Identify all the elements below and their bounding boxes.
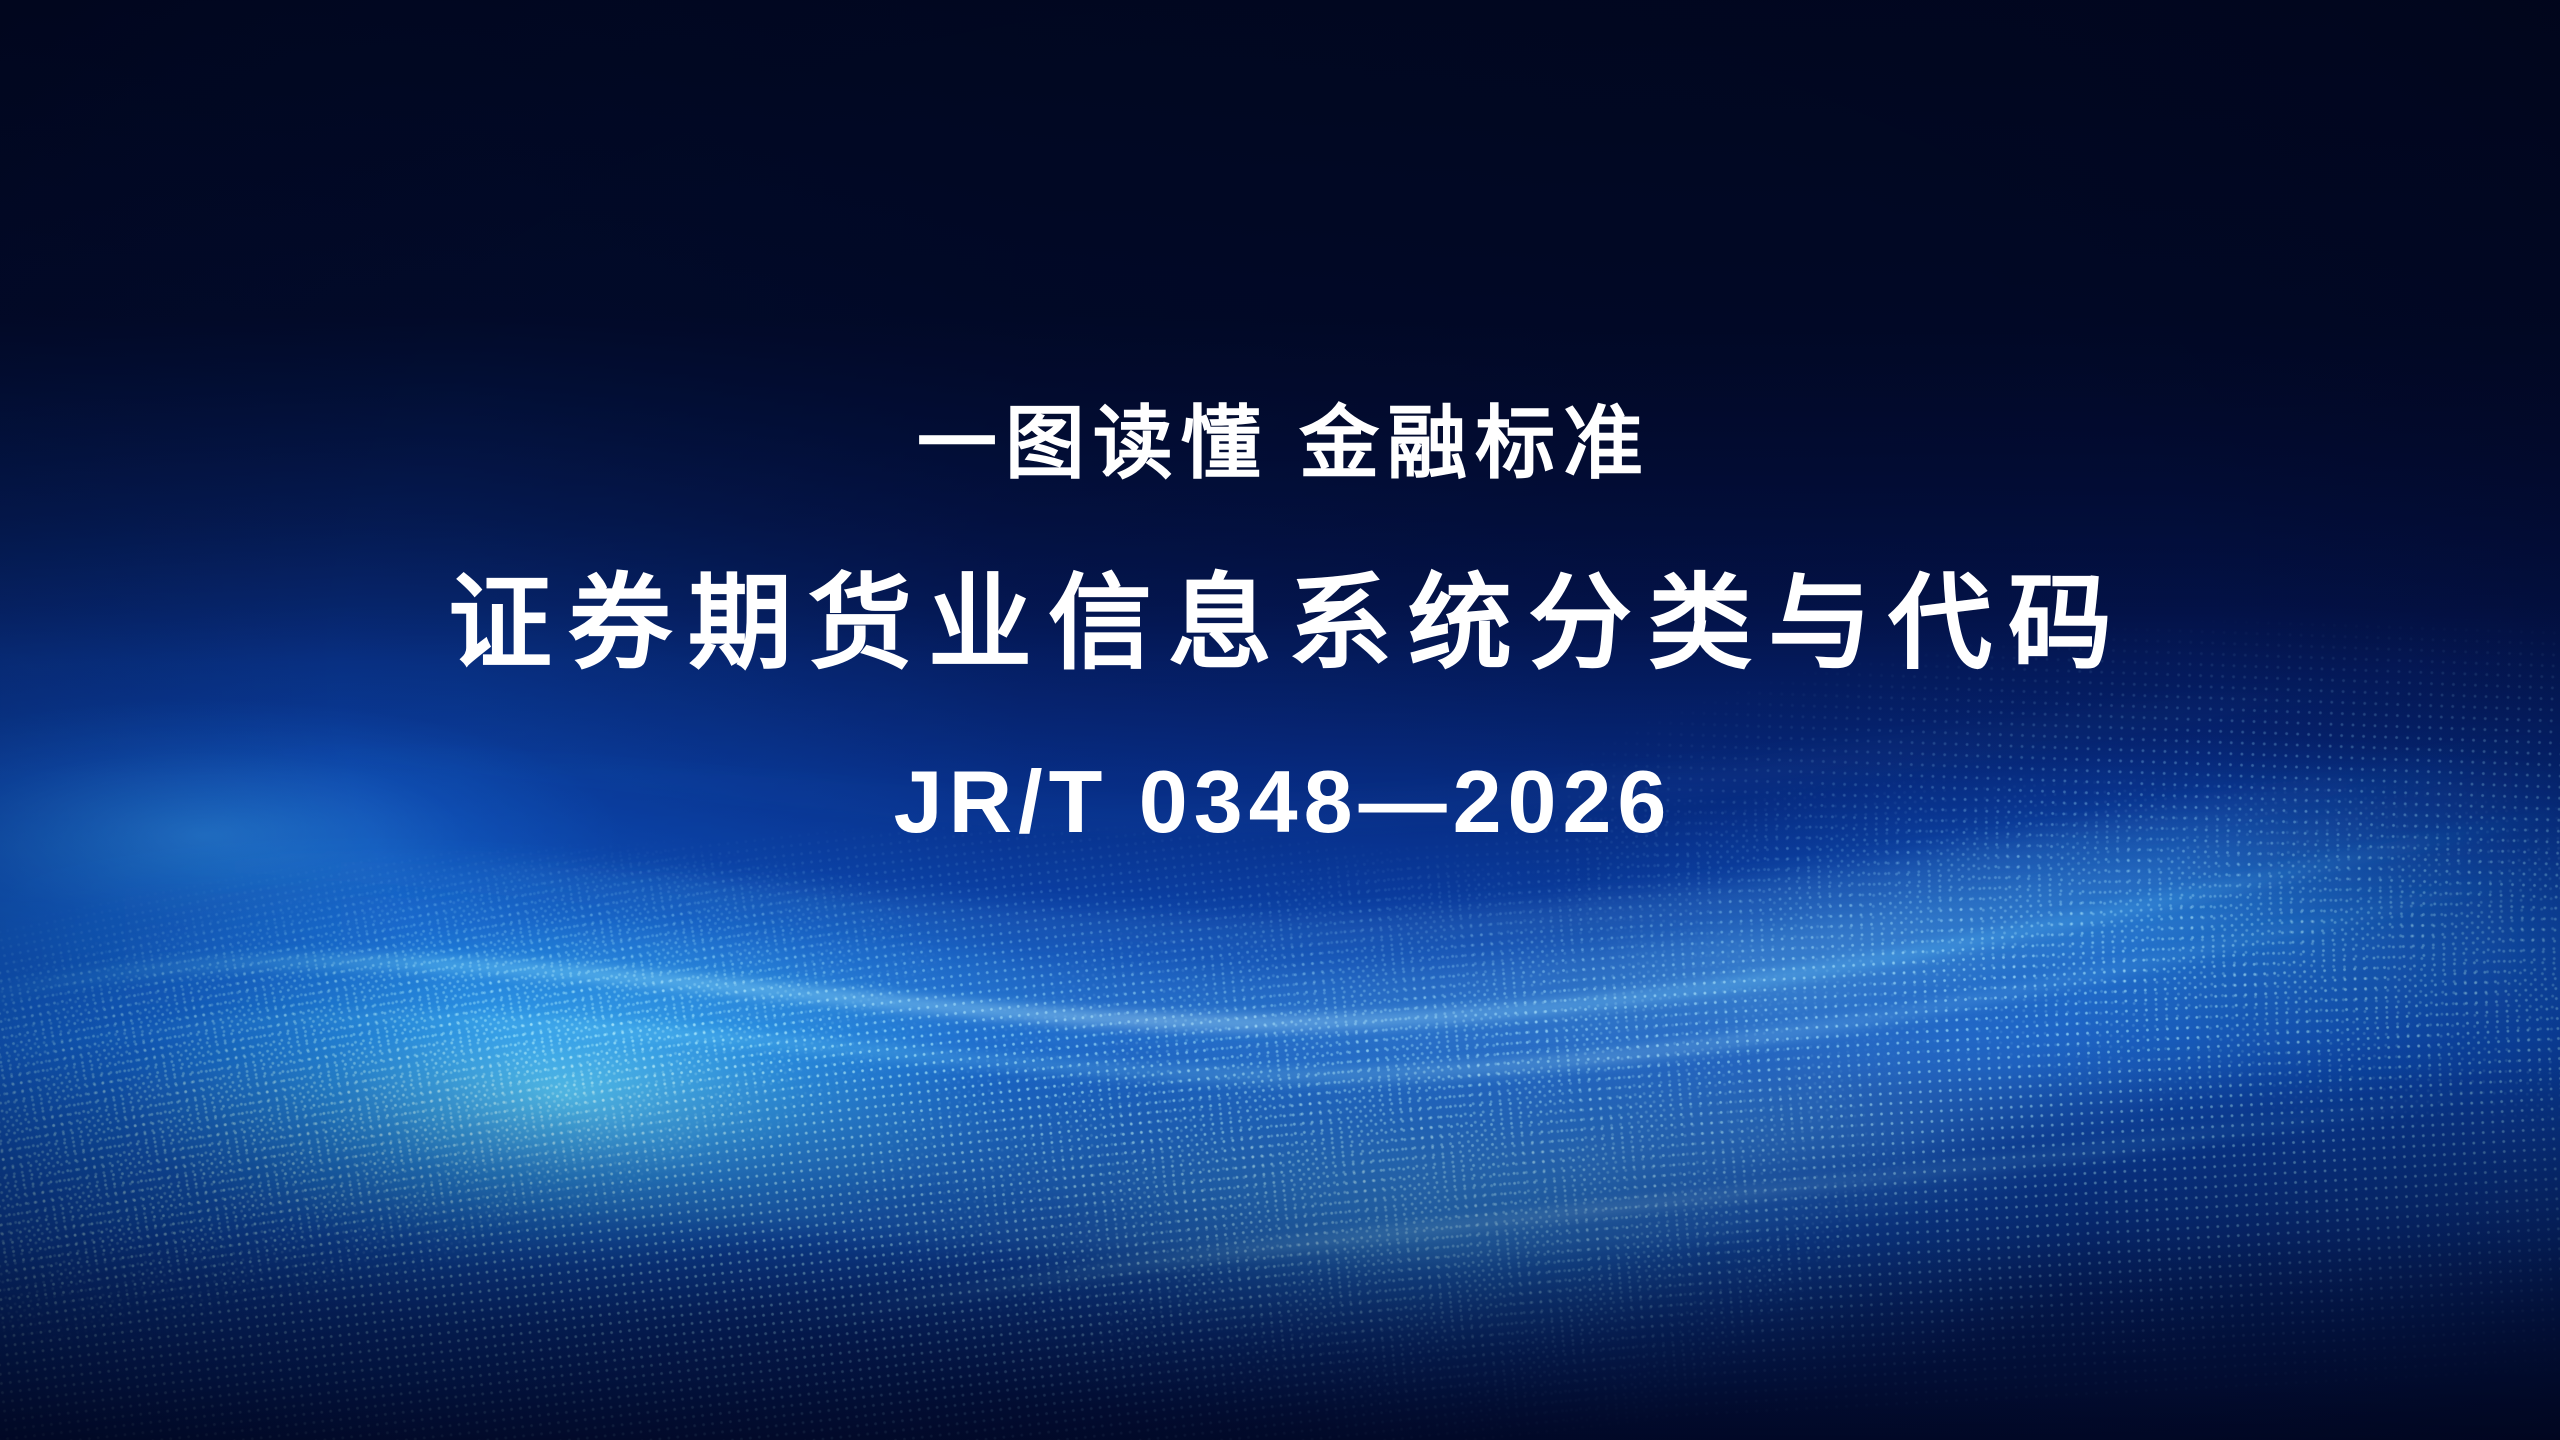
title-block: 一图读懂 金融标准 证券期货业信息系统分类与代码 JR/T 0348—2026: [0, 404, 2560, 846]
title-line-standard-name: 证券期货业信息系统分类与代码: [0, 572, 2560, 676]
title-slide: 一图读懂 金融标准 证券期货业信息系统分类与代码 JR/T 0348—2026: [0, 0, 2560, 1440]
title-line-topic: 一图读懂 金融标准: [0, 404, 2560, 484]
title-line-standard-code: JR/T 0348—2026: [0, 758, 2560, 846]
